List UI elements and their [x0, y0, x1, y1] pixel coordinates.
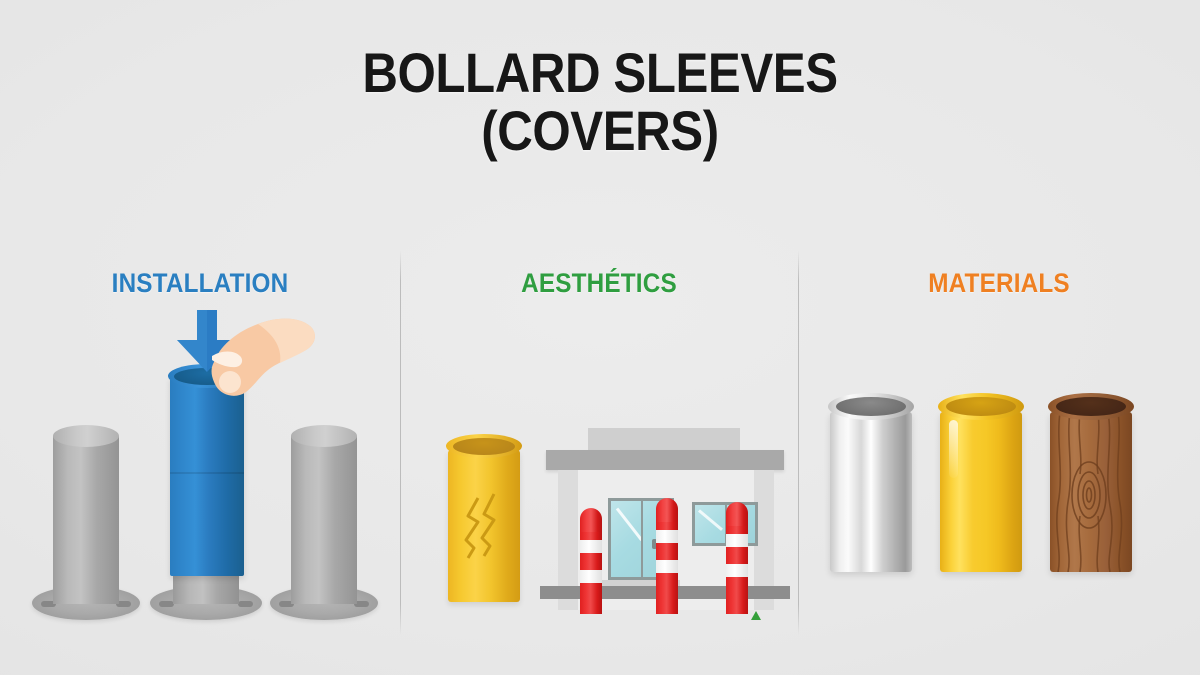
plastic-highlight — [949, 420, 958, 478]
stainless-steel-sleeve — [830, 412, 912, 572]
red-white-bollard-3 — [726, 502, 748, 614]
sleeve-bore — [1056, 397, 1126, 416]
reflective-stripe — [656, 560, 678, 573]
wood-sleeve-rim — [1048, 393, 1134, 420]
reflective-stripe — [580, 540, 602, 553]
sleeve-seam — [170, 472, 244, 474]
reflective-stripe — [726, 564, 748, 577]
sleeve-bore — [453, 438, 515, 455]
green-sprout-icon — [750, 611, 762, 620]
aesthetics-illustration — [400, 330, 798, 620]
section-heading-materials: MATERIALS — [818, 268, 1180, 299]
section-heading-installation: INSTALLATION — [20, 268, 380, 299]
storefront-window — [692, 502, 758, 546]
building-parapet — [588, 428, 740, 452]
bollard-cap — [53, 425, 119, 447]
base-bolt-icon — [238, 601, 253, 607]
sleeve-bore — [836, 397, 906, 416]
wood-grain-sleeve — [1050, 412, 1132, 572]
storefront-building — [540, 420, 790, 620]
building-awning — [546, 450, 784, 470]
dent-crack-icon — [448, 492, 520, 562]
bollard-dome-top — [580, 508, 602, 532]
wood-grain-pattern — [1050, 412, 1132, 572]
title-line-1: BOLLARD SLEEVES — [362, 41, 837, 104]
sleeve-bore — [946, 397, 1016, 416]
title-line-2: (COVERS) — [72, 102, 1128, 160]
bollard-dome-top — [726, 502, 748, 526]
page-title: BOLLARD SLEEVES (COVERS) — [72, 44, 1128, 159]
installation-illustration — [0, 320, 400, 620]
materials-illustration — [798, 370, 1200, 590]
bollard-post — [53, 436, 119, 604]
bollard-cap — [291, 425, 357, 447]
base-bolt-icon — [159, 601, 174, 607]
bollard-dome-top — [656, 498, 678, 522]
yellow-plastic-sleeve — [940, 412, 1022, 572]
bollard-body — [580, 520, 602, 614]
bollard-post — [291, 436, 357, 604]
infographic-canvas: BOLLARD SLEEVES (COVERS) INSTALLATION AE… — [0, 0, 1200, 675]
reflective-stripe — [726, 534, 748, 547]
red-white-bollard-1 — [580, 508, 602, 614]
gray-bollard-right — [270, 420, 378, 620]
door-glint — [616, 508, 643, 541]
steel-sleeve-rim — [828, 393, 914, 420]
dented-sleeve-rim — [446, 434, 522, 458]
yellow-sleeve-rim — [938, 393, 1024, 420]
window-glint — [698, 509, 723, 531]
section-heading-aesthetics: AESTHÉTICS — [420, 268, 778, 299]
gray-bollard-left — [32, 420, 140, 620]
hand-icon — [206, 312, 318, 408]
reflective-stripe — [656, 530, 678, 543]
red-white-bollard-2 — [656, 498, 678, 614]
reflective-stripe — [580, 570, 602, 583]
